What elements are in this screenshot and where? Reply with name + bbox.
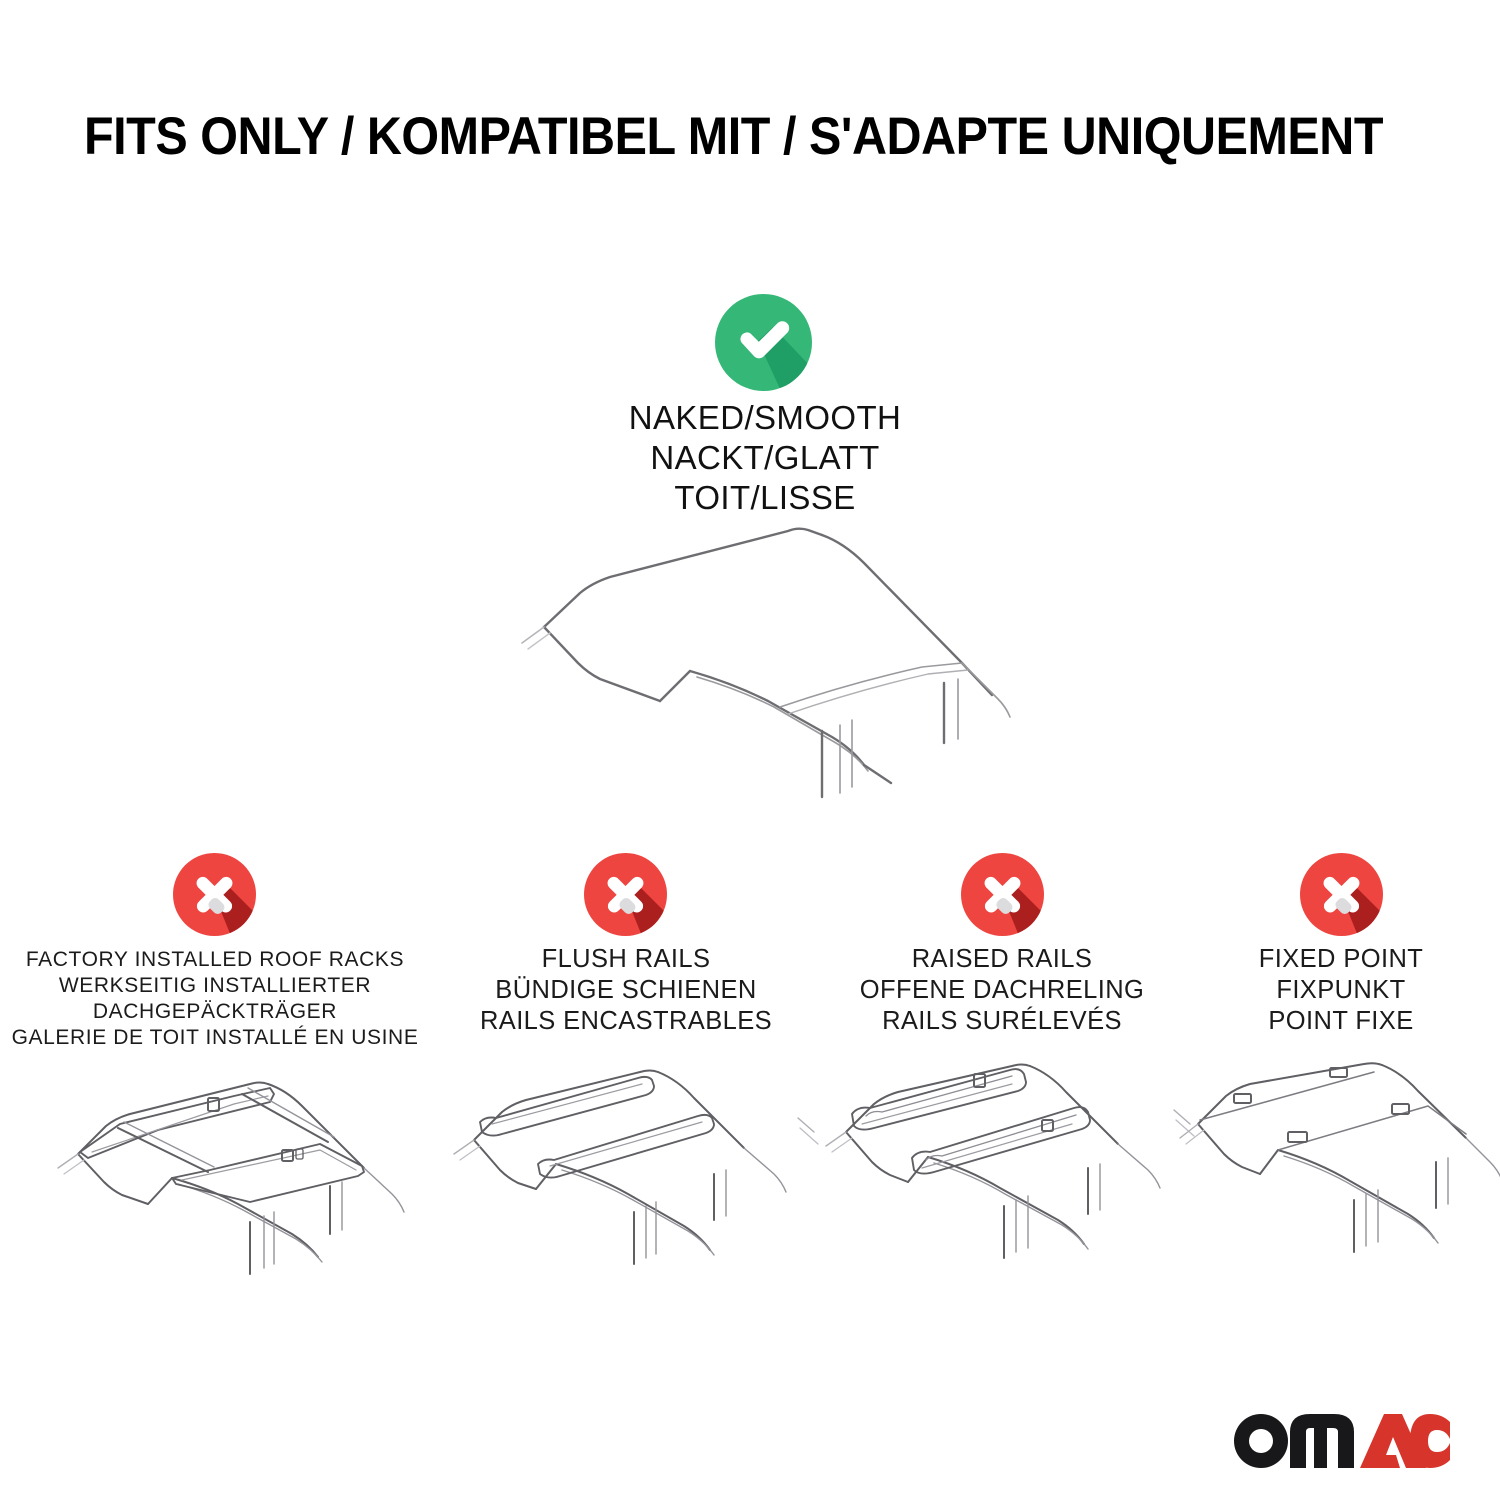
incompatible-caption-group: FLUSH RAILS BÜNDIGE SCHIENEN RAILS ENCAS…: [430, 944, 822, 1037]
raised-rails-illustration: [816, 1062, 1216, 1292]
green-check-circle-icon: [715, 294, 812, 391]
compatible-caption-de: NACKT/GLATT: [565, 438, 965, 478]
fixed-point-illustration: [1178, 1062, 1500, 1292]
red-x-circle-icon: [173, 853, 256, 936]
x-mark-glyph: [173, 853, 256, 936]
page-title: FITS ONLY / KOMPATIBEL MIT / S'ADAPTE UN…: [84, 108, 1310, 168]
factory-roof-rack-illustration: [20, 1062, 420, 1292]
logo-letter-c: [1410, 1414, 1450, 1468]
logo-letter-m: [1290, 1414, 1354, 1468]
x-mark-glyph: [1300, 853, 1383, 936]
red-x-circle-icon: [1300, 853, 1383, 936]
check-mark-glyph: [715, 294, 812, 391]
caption-de-line1: OFFENE DACHRELING: [822, 975, 1182, 1006]
caption-de-line2: DACHGEPÄCKTRÄGER: [0, 999, 430, 1025]
logo-letter-o: [1234, 1414, 1288, 1468]
x-mark-glyph: [961, 853, 1044, 936]
caption-fr: RAILS ENCASTRABLES: [430, 1006, 822, 1037]
caption-fr: POINT FIXE: [1182, 1006, 1500, 1037]
caption-de-line1: BÜNDIGE SCHIENEN: [430, 975, 822, 1006]
compatible-caption-fr: TOIT/LISSE: [565, 478, 965, 518]
omac-logo: [1234, 1412, 1450, 1470]
incompatible-caption-group: FACTORY INSTALLED ROOF RACKS WERKSEITIG …: [0, 947, 430, 1051]
compatible-caption-en: NAKED/SMOOTH: [565, 398, 965, 438]
compatible-caption-group: NAKED/SMOOTH NACKT/GLATT TOIT/LISSE: [565, 398, 965, 518]
caption-de-line1: WERKSEITIG INSTALLIERTER: [0, 973, 430, 999]
red-x-circle-icon: [961, 853, 1044, 936]
caption-en: FACTORY INSTALLED ROOF RACKS: [0, 947, 430, 973]
x-mark-glyph: [584, 853, 667, 936]
smooth-roof-illustration: [492, 515, 1052, 805]
caption-en: FIXED POINT: [1182, 944, 1500, 975]
caption-fr: GALERIE DE TOIT INSTALLÉ EN USINE: [0, 1025, 430, 1051]
caption-en: FLUSH RAILS: [430, 944, 822, 975]
incompatible-caption-group: RAISED RAILS OFFENE DACHRELING RAILS SUR…: [822, 944, 1182, 1037]
caption-de-line1: FIXPUNKT: [1182, 975, 1500, 1006]
caption-fr: RAILS SURÉLEVÉS: [822, 1006, 1182, 1037]
red-x-circle-icon: [584, 853, 667, 936]
incompatible-caption-group: FIXED POINT FIXPUNKT POINT FIXE: [1182, 944, 1500, 1037]
caption-en: RAISED RAILS: [822, 944, 1182, 975]
flush-rails-illustration: [426, 1062, 826, 1292]
